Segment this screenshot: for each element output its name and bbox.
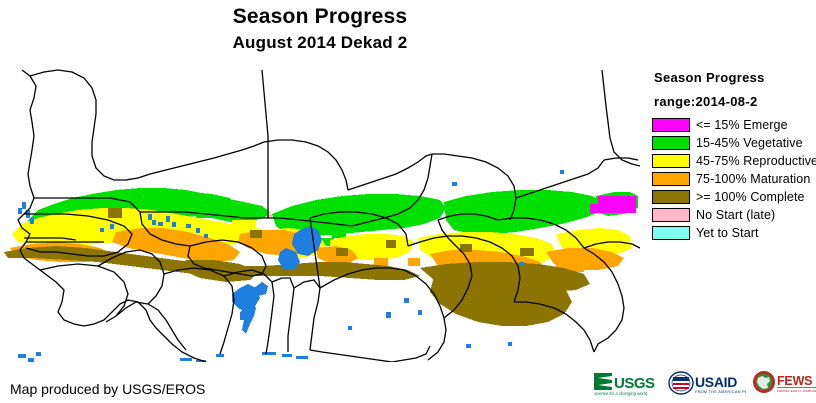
legend-label-vegetative: 15-45% Vegetative <box>696 136 803 150</box>
svg-text:USGS: USGS <box>614 375 655 392</box>
legend-item-nostart[interactable]: No Start (late) <box>648 206 816 223</box>
legend-range: range:2014-08-2 <box>654 94 816 109</box>
legend-label-reproductive: 45-75% Reproductive <box>696 154 816 168</box>
map-credit: Map produced by USGS/EROS <box>10 381 205 397</box>
fewsnet-logo-mark: FEWS NET FAMINE EARLY WARNING SYSTEMS NE… <box>752 369 816 397</box>
globe-icon <box>753 371 775 393</box>
legend-swatch-reproductive <box>652 154 690 168</box>
agency-logos: USGS science for a changing world USAID … <box>592 367 814 399</box>
legend-label-emerge: <= 15% Emerge <box>696 118 788 132</box>
legend-item-yettostart[interactable]: Yet to Start <box>648 224 816 241</box>
svg-text:FAMINE EARLY WARNING SYSTEMS N: FAMINE EARLY WARNING SYSTEMS NETWORK <box>777 389 816 393</box>
legend-swatch-complete <box>652 190 690 204</box>
legend-swatch-maturation <box>652 172 690 186</box>
legend-swatch-yettostart <box>652 226 690 240</box>
svg-text:science for a changing world: science for a changing world <box>594 391 648 396</box>
legend-title: Season Progress <box>654 70 816 85</box>
legend-swatch-nostart <box>652 208 690 222</box>
legend-label-yettostart: Yet to Start <box>696 226 759 240</box>
page-title: Season Progress <box>0 5 640 29</box>
legend-item-complete[interactable]: >= 100% Complete <box>648 188 816 205</box>
legend-item-reproductive[interactable]: 45-75% Reproductive <box>648 152 816 169</box>
usgs-logo[interactable]: USGS science for a changing world <box>592 368 662 398</box>
legend-label-maturation: 75-100% Maturation <box>696 172 810 186</box>
usaid-seal-icon <box>669 372 693 394</box>
page-subtitle: August 2014 Dekad 2 <box>0 33 640 53</box>
svg-text:FEWS NET: FEWS NET <box>777 374 816 388</box>
fewsnet-logo[interactable]: FEWS NET FAMINE EARLY WARNING SYSTEMS NE… <box>752 368 816 398</box>
usgs-logo-mark: USGS science for a changing world <box>592 369 662 397</box>
map-legend: Season Progress range:2014-08-2 <= 15% E… <box>648 70 816 242</box>
usaid-logo-mark: USAID FROM THE AMERICAN PEOPLE <box>668 369 746 397</box>
west-africa-season-progress-map <box>0 62 640 362</box>
legend-swatch-vegetative <box>652 136 690 150</box>
legend-label-complete: >= 100% Complete <box>696 190 805 204</box>
legend-item-emerge[interactable]: <= 15% Emerge <box>648 116 816 133</box>
usaid-logo[interactable]: USAID FROM THE AMERICAN PEOPLE <box>668 368 746 398</box>
map-canvas <box>0 62 640 362</box>
svg-text:FROM THE AMERICAN PEOPLE: FROM THE AMERICAN PEOPLE <box>695 390 746 394</box>
legend-label-nostart: No Start (late) <box>696 208 775 222</box>
svg-text:USAID: USAID <box>695 374 737 390</box>
season-progress-map-page: Season Progress August 2014 Dekad 2 <box>0 0 816 403</box>
legend-item-maturation[interactable]: 75-100% Maturation <box>648 170 816 187</box>
legend-item-vegetative[interactable]: 15-45% Vegetative <box>648 134 816 151</box>
legend-swatch-emerge <box>652 118 690 132</box>
